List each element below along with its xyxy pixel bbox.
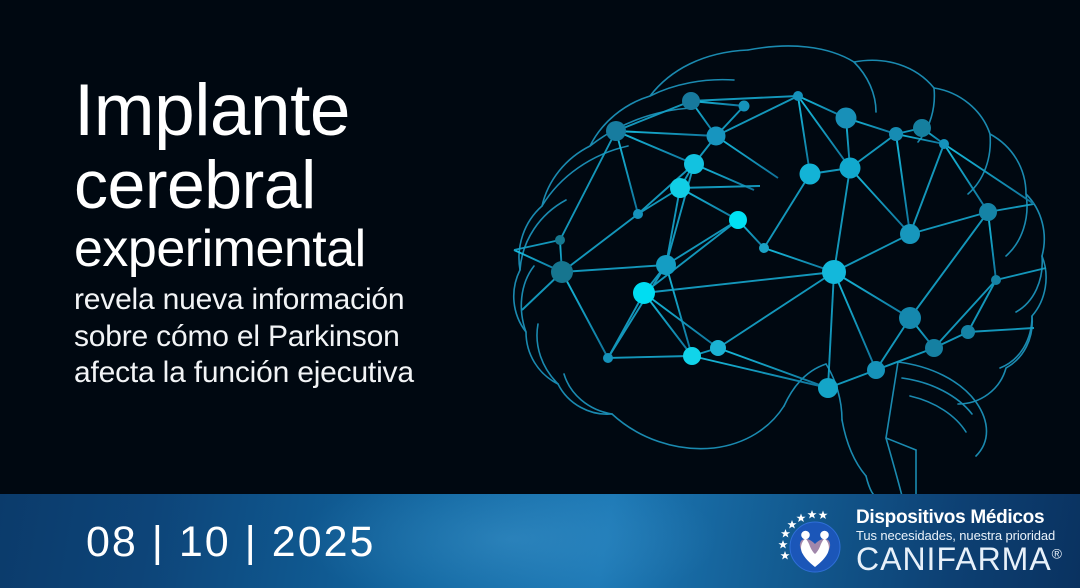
publication-date: 08 | 10 | 2025 <box>86 518 375 567</box>
headline-line-1: Implante <box>74 74 494 147</box>
subhead-line-2: sobre cómo el Parkinson <box>74 319 494 356</box>
brand-tagline-bold: Dispositivos Médicos <box>856 508 1062 527</box>
subhead-line-3: afecta la función ejecutiva <box>74 355 494 392</box>
poster-canvas: Implante cerebral experimental revela nu… <box>0 0 1080 588</box>
headline-line-3: experimental <box>74 223 494 275</box>
footer-bar: 08 | 10 | 2025 <box>0 494 1080 588</box>
brand-text-block: Dispositivos Médicos Tus necesidades, nu… <box>856 508 1062 575</box>
headline-line-2: cerebral <box>74 151 494 219</box>
canifarma-logo-icon <box>775 505 847 577</box>
brand-lockup[interactable]: Dispositivos Médicos Tus necesidades, nu… <box>775 504 1062 578</box>
registered-mark: ® <box>1052 545 1062 561</box>
brand-wordmark-text: CANIFARMA <box>856 541 1052 577</box>
subhead-line-1: revela nueva información <box>74 282 494 319</box>
brain-network-illustration <box>498 18 1080 496</box>
headline-block: Implante cerebral experimental revela nu… <box>74 74 494 392</box>
brand-wordmark: CANIFARMA® <box>856 543 1062 575</box>
